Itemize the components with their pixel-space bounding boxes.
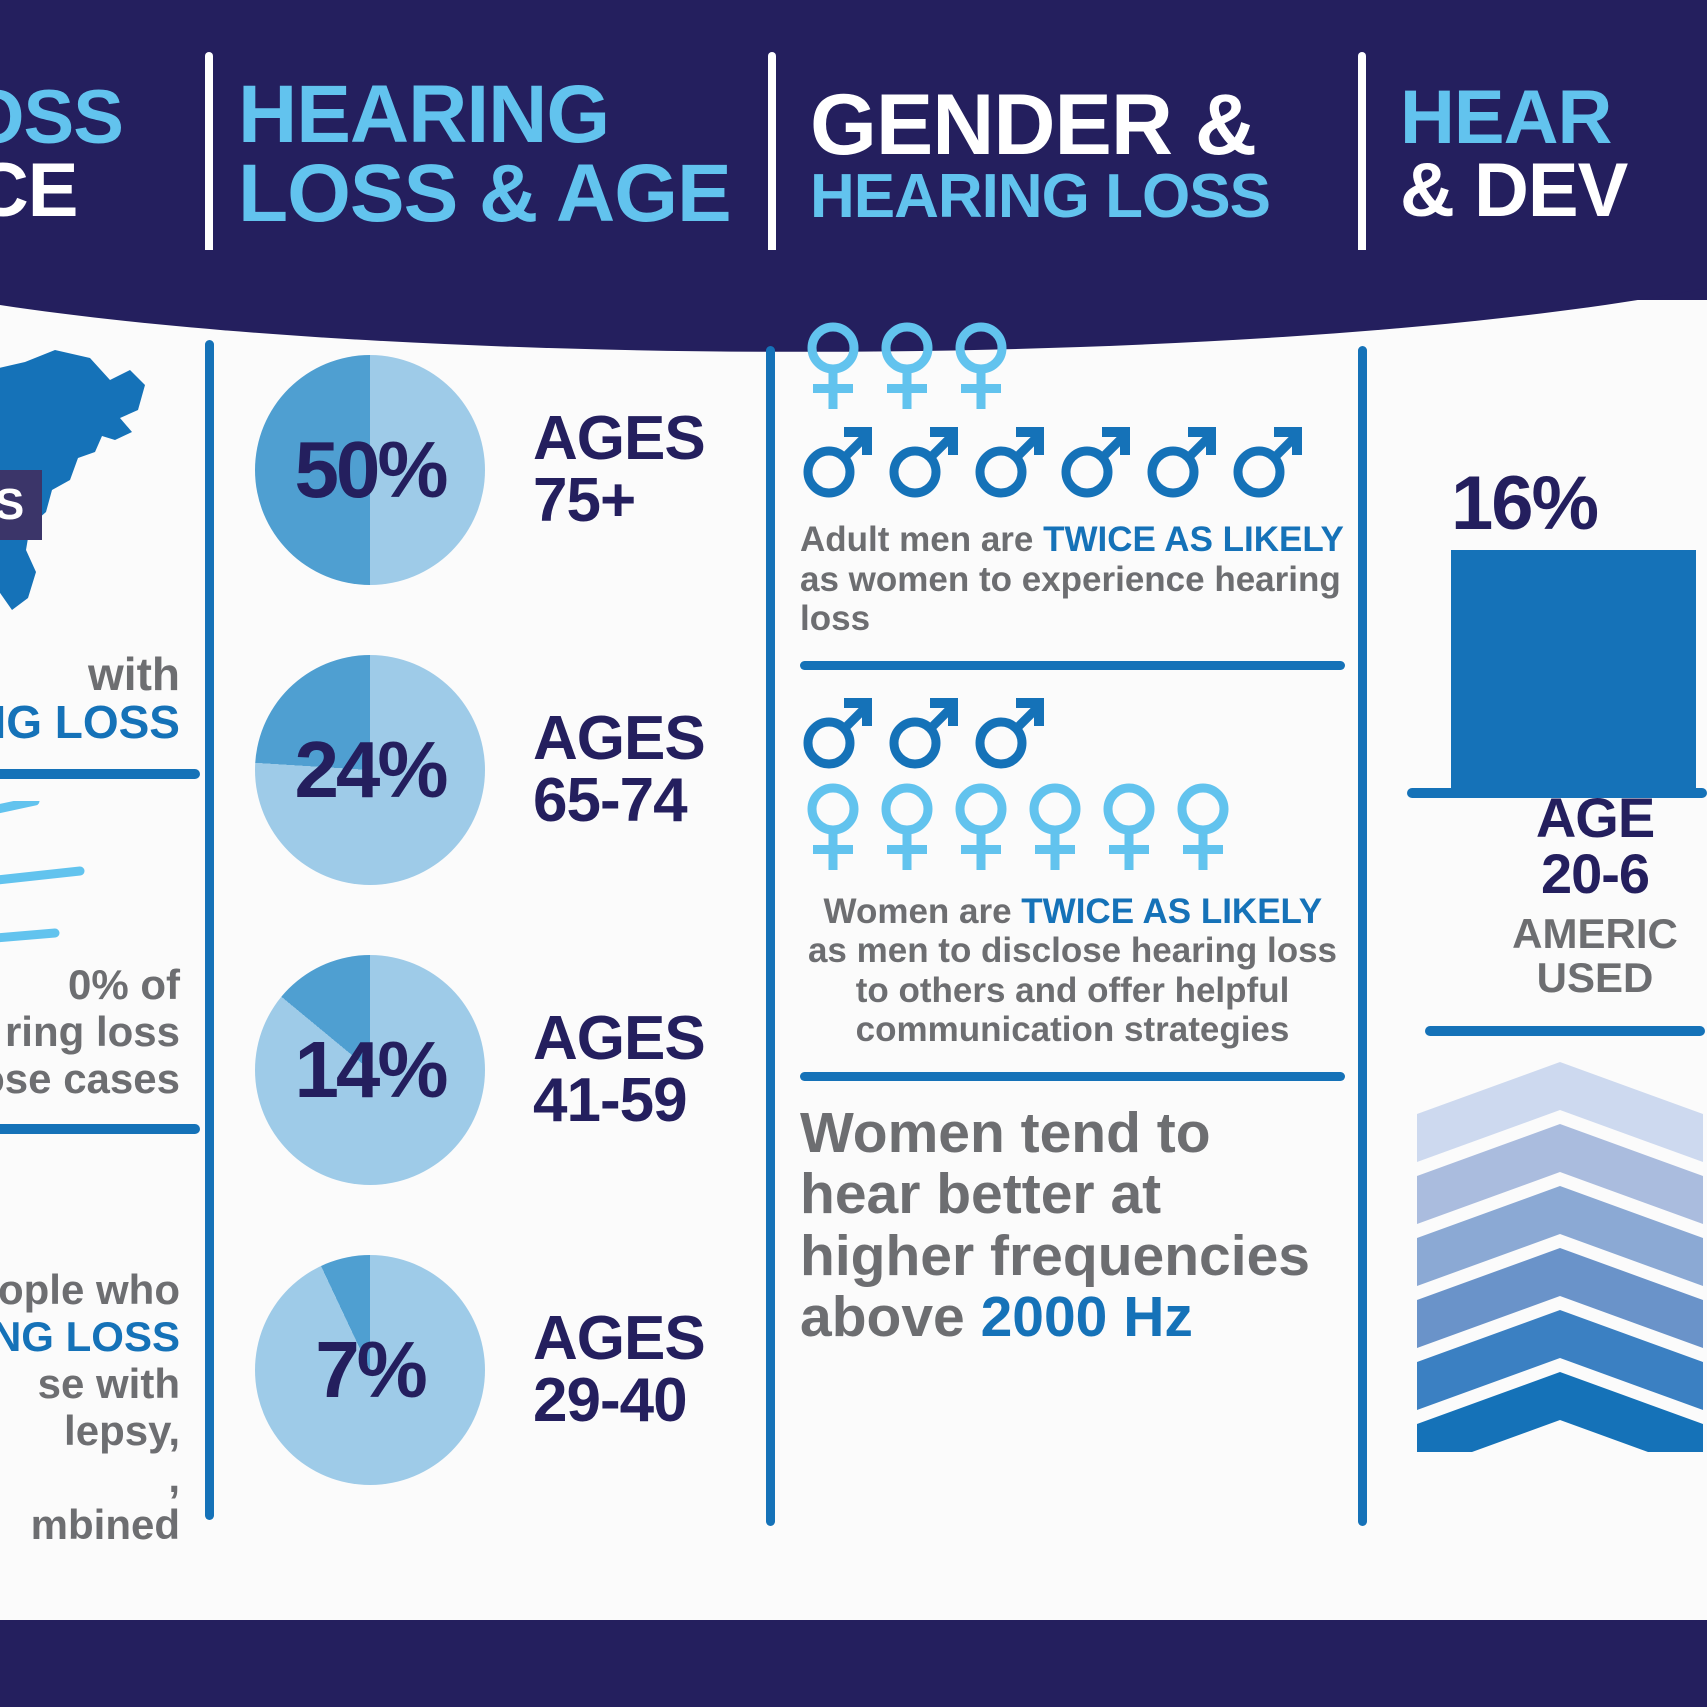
prevalence-stat-line-2: ring loss	[0, 1008, 180, 1055]
pictogram-men-row-2	[800, 692, 1345, 777]
pie-age-label-41-59: AGES 41-59	[533, 1008, 705, 1132]
comorbidity-line-4: lepsy,	[0, 1407, 180, 1454]
gender-rule-1	[800, 661, 1345, 670]
male-icon	[1230, 421, 1308, 501]
prevalence-stat-line-1: 0% of	[0, 961, 180, 1008]
female-icon-wrapper	[948, 781, 1014, 878]
male-icon-wrapper	[1144, 421, 1222, 506]
female-icon	[874, 320, 940, 412]
pie-row-29-40: 7% AGES 29-40	[255, 1220, 725, 1520]
bar-rect	[1451, 550, 1696, 795]
pictogram-women-row-1	[800, 320, 1345, 417]
gender-stat-2-highlight: TWICE AS LIKELY	[1021, 892, 1321, 931]
age-line-1: AGES	[533, 408, 705, 470]
chevron-stack-icon	[1395, 1052, 1707, 1457]
infographic-body: RICANS with NG LOSS 0% of ring loss ose …	[0, 300, 1707, 1620]
gender-stat-1: Adult men are TWICE AS LIKELY as women t…	[800, 520, 1345, 639]
female-icon-wrapper	[948, 320, 1014, 417]
comorbidity-line-5: ,	[0, 1454, 180, 1501]
pie-chart-65-74: 24%	[255, 655, 485, 885]
pictogram-men-row-1	[800, 421, 1345, 506]
infographic-header: LOSS NCE HEARING LOSS & AGE GENDER & HEA…	[0, 0, 1707, 300]
female-icon	[948, 781, 1014, 873]
column-gender: Adult men are TWICE AS LIKELY as women t…	[800, 320, 1345, 1349]
female-icon-wrapper	[1096, 781, 1162, 878]
column-devices: 16% AGE 20-6 AMERIC USED	[1395, 320, 1707, 1457]
prevalence-stat-text: 0% of ring loss ose cases	[0, 961, 200, 1102]
male-icon	[972, 421, 1050, 501]
female-icon-wrapper	[800, 781, 866, 878]
gender-stat-1-highlight: TWICE AS LIKELY	[1043, 520, 1343, 559]
header-title-line1: GENDER &	[810, 84, 1270, 167]
male-icon-wrapper	[972, 421, 1050, 506]
prevalence-caption-blue: NG LOSS	[0, 698, 180, 746]
header-divider-1	[205, 52, 213, 274]
device-sub-label: AMERIC USED	[1395, 912, 1707, 1000]
female-icon-wrapper	[1022, 781, 1088, 878]
pie-percent-label: 24%	[255, 655, 485, 885]
gender-stat-2: Women are TWICE AS LIKELY as men to disc…	[800, 892, 1345, 1050]
comorbidity-line-1: ople who	[0, 1266, 180, 1313]
header-title-line1: HEAR	[1400, 82, 1627, 155]
prevalence-stat-line-3: ose cases	[0, 1055, 180, 1102]
gender-stat-2-post: as men to disclose hearing loss to other…	[808, 931, 1337, 1049]
pie-chart-29-40: 7%	[255, 1255, 485, 1485]
column-prevalence: RICANS with NG LOSS 0% of ring loss ose …	[0, 340, 200, 1548]
male-icon	[1144, 421, 1222, 501]
male-icon	[886, 421, 964, 501]
infographic-footer	[0, 1620, 1707, 1707]
male-icon-wrapper	[1058, 421, 1136, 506]
header-title-line1: LOSS	[0, 82, 123, 155]
gender-stat-1-pre: Adult men are	[800, 520, 1043, 559]
prevalence-comorbidity-text: ople who ING LOSS se with lepsy, , mbine…	[0, 1266, 200, 1548]
male-icon	[800, 692, 878, 772]
female-icon	[948, 320, 1014, 412]
male-icon-wrapper	[886, 421, 964, 506]
age-line-2: 65-74	[533, 770, 705, 832]
device-sub-line-1: AMERIC	[1465, 912, 1707, 956]
female-icon-wrapper	[874, 320, 940, 417]
pie-chart-41-59: 14%	[255, 955, 485, 1185]
male-icon-wrapper	[1230, 421, 1308, 506]
male-icon	[800, 421, 878, 501]
comorbidity-line-2: ING LOSS	[0, 1313, 180, 1360]
header-section-age: HEARING LOSS & AGE	[238, 50, 731, 260]
burst-lines-icon	[0, 801, 200, 961]
female-icon-wrapper	[800, 320, 866, 417]
plus-icon-group	[0, 1156, 180, 1266]
pie-age-label-65-74: AGES 65-74	[533, 708, 705, 832]
prevalence-rule-1	[0, 769, 200, 779]
comorbidity-line-3: se with	[0, 1360, 180, 1407]
age-line-2: 41-59	[533, 1070, 705, 1132]
gender-rule-2	[800, 1072, 1345, 1081]
header-title-line2: LOSS & AGE	[238, 155, 731, 234]
male-icon-wrapper	[972, 692, 1050, 777]
age-line-1: AGES	[533, 1008, 705, 1070]
header-section-devices: HEAR & DEV	[1400, 50, 1627, 260]
male-icon	[1058, 421, 1136, 501]
pie-row-65-74: 24% AGES 65-74	[255, 620, 725, 920]
device-sub-line-2: USED	[1465, 956, 1707, 1000]
female-icon	[1022, 781, 1088, 873]
header-title-line2: & DEV	[1400, 155, 1627, 228]
device-rule-1	[1425, 1026, 1705, 1036]
pie-chart-75plus: 50%	[255, 355, 485, 585]
header-title-line2: NCE	[0, 155, 123, 228]
prevalence-caption-gray: with	[0, 650, 180, 698]
female-icon-wrapper	[874, 781, 940, 878]
plus-icons	[0, 1156, 200, 1266]
pictogram-women-row-2	[800, 781, 1345, 878]
frequency-hz-value: 2000 Hz	[981, 1285, 1193, 1349]
male-icon-wrapper	[886, 692, 964, 777]
us-map-illustration: RICANS	[0, 340, 180, 640]
male-icon	[972, 692, 1050, 772]
male-icon	[886, 692, 964, 772]
header-section-gender: GENDER & HEARING LOSS	[810, 50, 1270, 260]
column-divider-2	[766, 346, 775, 1526]
column-hearing-loss-age: 50% AGES 75+ 24% AGES 65-74 14% AGES 41-…	[255, 320, 725, 1520]
gender-stat-1-post: as women to experience hearing loss	[800, 560, 1341, 639]
prevalence-caption: with NG LOSS	[0, 650, 200, 747]
female-icon	[800, 781, 866, 873]
male-icon-wrapper	[800, 692, 878, 777]
female-icon	[800, 320, 866, 412]
age-line-2: 75+	[533, 470, 705, 532]
comorbidity-line-6: mbined	[0, 1501, 180, 1548]
column-divider-3	[1358, 346, 1367, 1526]
pie-percent-label: 14%	[255, 955, 485, 1185]
pie-age-label-75plus: AGES 75+	[533, 408, 705, 532]
male-icon-wrapper	[800, 421, 878, 506]
pie-percent-label: 50%	[255, 355, 485, 585]
header-section-prevalence: LOSS NCE	[0, 50, 123, 260]
age-line-1: AGES	[533, 1308, 705, 1370]
bar-axis-line	[1407, 788, 1707, 798]
device-age-line-1: AGE	[1465, 790, 1707, 846]
device-age-line-2: 20-6	[1465, 846, 1707, 902]
burst-shape	[0, 801, 180, 961]
female-icon	[1170, 781, 1236, 873]
female-icon	[874, 781, 940, 873]
header-divider-2	[768, 52, 776, 274]
bar-percent-label: 16%	[1451, 460, 1597, 547]
header-title-line2: HEARING LOSS	[810, 167, 1270, 227]
pie-row-41-59: 14% AGES 41-59	[255, 920, 725, 1220]
age-line-2: 29-40	[533, 1370, 705, 1432]
pie-row-75plus: 50% AGES 75+	[255, 320, 725, 620]
prevalence-rule-2	[0, 1124, 200, 1134]
header-title-line1: HEARING	[238, 76, 731, 155]
map-badge-label: RICANS	[0, 470, 42, 540]
device-bar-chart: 16%	[1395, 320, 1707, 790]
age-line-1: AGES	[533, 708, 705, 770]
pie-percent-label: 7%	[255, 1255, 485, 1485]
gender-stat-2-pre: Women are	[824, 892, 1022, 931]
column-divider-1	[205, 340, 214, 1520]
header-divider-3	[1358, 52, 1366, 274]
female-icon-wrapper	[1170, 781, 1236, 878]
chevron-group	[1395, 1052, 1707, 1452]
female-icon	[1096, 781, 1162, 873]
gender-frequency-statement: Women tend to hear better at higher freq…	[800, 1103, 1345, 1349]
device-age-label: AGE 20-6	[1395, 790, 1707, 902]
pie-age-label-29-40: AGES 29-40	[533, 1308, 705, 1432]
